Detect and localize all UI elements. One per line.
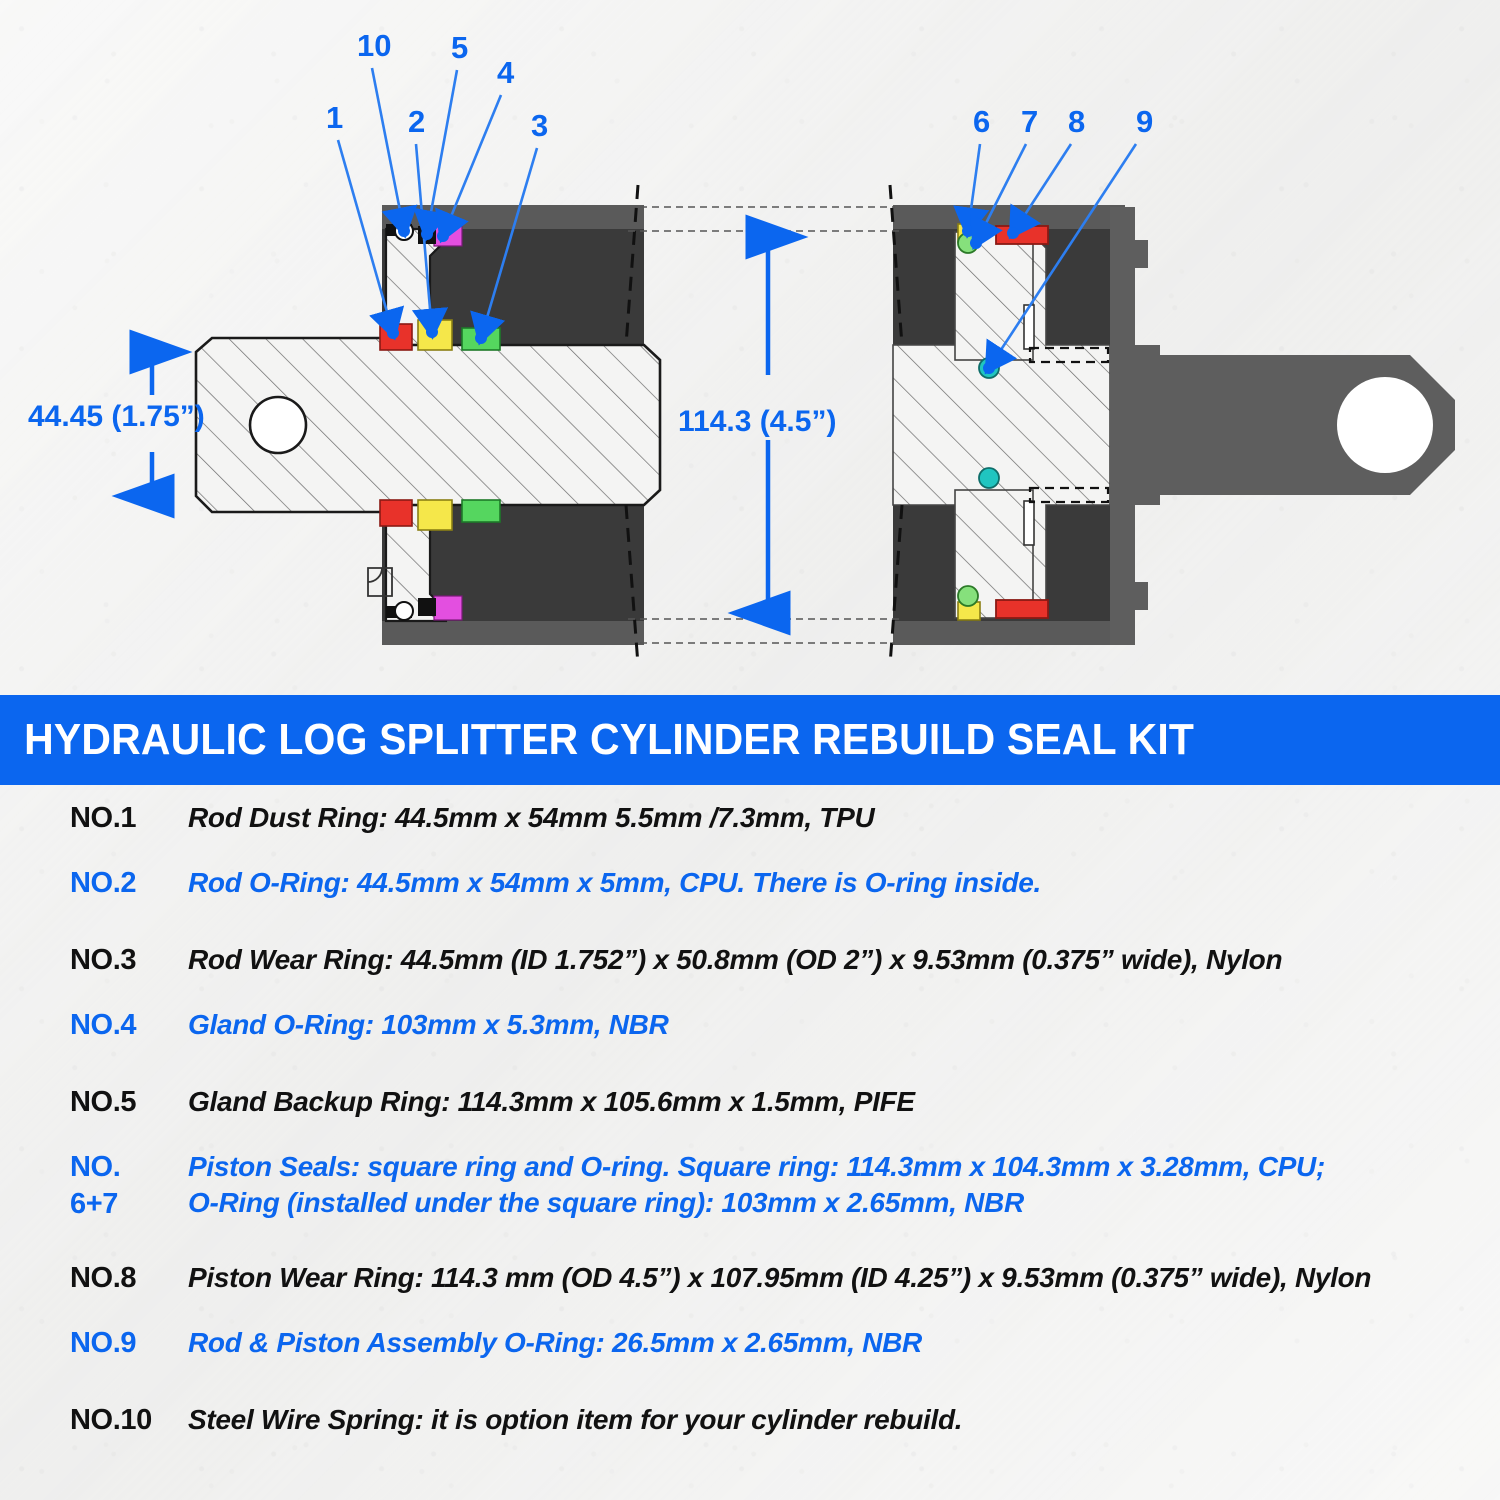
part-row: NO.6+7Piston Seals: square ring and O-ri… bbox=[0, 1149, 1500, 1257]
callout-number-9: 9 bbox=[1136, 104, 1153, 140]
part-number-line2: 6+7 bbox=[70, 1186, 188, 1223]
callout-number-5: 5 bbox=[451, 30, 468, 66]
title-banner: HYDRAULIC LOG SPLITTER CYLINDER REBUILD … bbox=[0, 695, 1500, 785]
seal-marker-4-gland-oring-mirror bbox=[434, 596, 462, 620]
part-row: NO.4Gland O-Ring: 103mm x 5.3mm, NBR bbox=[0, 1007, 1500, 1081]
parts-list: NO.1Rod Dust Ring: 44.5mm x 54mm 5.5mm /… bbox=[0, 800, 1500, 1461]
part-number: NO.4 bbox=[70, 1007, 188, 1044]
leader-dot-2 bbox=[426, 326, 438, 338]
callout-number-2: 2 bbox=[408, 104, 425, 140]
leader-dot-3 bbox=[475, 332, 487, 344]
rod-eye-hole bbox=[250, 397, 306, 453]
part-description: Rod Wear Ring: 44.5mm (ID 1.752”) x 50.8… bbox=[188, 942, 1282, 978]
part-description: Piston Seals: square ring and O-ring. Sq… bbox=[188, 1149, 1325, 1222]
part-description: Gland O-Ring: 103mm x 5.3mm, NBR bbox=[188, 1007, 669, 1043]
part-description: Rod & Piston Assembly O-Ring: 26.5mm x 2… bbox=[188, 1325, 922, 1361]
clevis-eye-end bbox=[1110, 207, 1455, 645]
leader-dot-6 bbox=[962, 225, 974, 237]
seal-marker-8-piston-wear-ring bbox=[996, 226, 1048, 244]
callout-number-6: 6 bbox=[973, 104, 990, 140]
part-description: Rod Dust Ring: 44.5mm x 54mm 5.5mm /7.3m… bbox=[188, 800, 874, 836]
part-description: Piston Wear Ring: 114.3 mm (OD 4.5”) x 1… bbox=[188, 1260, 1371, 1296]
seal-marker-9-assembly-oring-mirror bbox=[979, 468, 999, 488]
part-row: NO.2Rod O-Ring: 44.5mm x 54mm x 5mm, CPU… bbox=[0, 865, 1500, 939]
part-row: NO.1Rod Dust Ring: 44.5mm x 54mm 5.5mm /… bbox=[0, 800, 1500, 862]
part-number: NO.8 bbox=[70, 1260, 188, 1297]
clevis-pin-hole bbox=[1337, 377, 1433, 473]
part-description: Rod O-Ring: 44.5mm x 54mm x 5mm, CPU. Th… bbox=[188, 865, 1041, 901]
part-description-line2: O-Ring (installed under the square ring)… bbox=[188, 1185, 1325, 1221]
cylinder-svg bbox=[0, 0, 1500, 690]
dimension-label-rod-diameter: 44.45 (1.75”) bbox=[28, 400, 205, 434]
piston-rod bbox=[196, 338, 660, 512]
part-number: NO.3 bbox=[70, 942, 188, 979]
seal-marker-2-rod-oring-mirror bbox=[418, 500, 452, 530]
part-row: NO.9Rod & Piston Assembly O-Ring: 26.5mm… bbox=[0, 1325, 1500, 1399]
assembly-slot-bottom bbox=[1024, 501, 1034, 545]
leader-dot-1 bbox=[387, 327, 399, 339]
part-description: Gland Backup Ring: 114.3mm x 105.6mm x 1… bbox=[188, 1084, 915, 1120]
part-description: Steel Wire Spring: it is option item for… bbox=[188, 1402, 962, 1438]
seal-marker-5-backup-ring-mirror bbox=[418, 598, 436, 616]
callout-number-4: 4 bbox=[497, 55, 514, 91]
callout-number-7: 7 bbox=[1021, 104, 1038, 140]
banner-title: HYDRAULIC LOG SPLITTER CYLINDER REBUILD … bbox=[0, 715, 1194, 765]
callout-number-8: 8 bbox=[1068, 104, 1085, 140]
callout-number-10: 10 bbox=[357, 28, 391, 64]
leader-dot-10 bbox=[398, 225, 410, 237]
part-number: NO.9 bbox=[70, 1325, 188, 1362]
callout-number-3: 3 bbox=[531, 108, 548, 144]
seal-marker-1-dust-ring-mirror bbox=[380, 500, 412, 526]
leader-dot-8 bbox=[1007, 227, 1019, 239]
seal-marker-7-piston-oring-mirror bbox=[958, 586, 978, 606]
seal-marker-3-wear-ring-mirror bbox=[462, 500, 500, 522]
part-row: NO.5Gland Backup Ring: 114.3mm x 105.6mm… bbox=[0, 1084, 1500, 1146]
part-number: NO.5 bbox=[70, 1084, 188, 1121]
callout-number-1: 1 bbox=[326, 100, 343, 136]
seal-marker-8-piston-wear-ring-mirror bbox=[996, 600, 1048, 618]
part-row: NO.10Steel Wire Spring: it is option ite… bbox=[0, 1402, 1500, 1458]
leader-dot-4 bbox=[437, 230, 449, 242]
part-row: NO.3Rod Wear Ring: 44.5mm (ID 1.752”) x … bbox=[0, 942, 1500, 1004]
seal-marker-10-wire-spring-mirror bbox=[395, 602, 413, 620]
part-number: NO.2 bbox=[70, 865, 188, 902]
leader-dot-7 bbox=[970, 237, 982, 249]
part-row: NO.8Piston Wear Ring: 114.3 mm (OD 4.5”)… bbox=[0, 1260, 1500, 1322]
cylinder-cross-section-diagram: 11025436789 44.45 (1.75”) 114.3 (4.5”) bbox=[0, 0, 1500, 690]
leader-dot-5 bbox=[421, 228, 433, 240]
part-number: NO.1 bbox=[70, 800, 188, 837]
leader-dot-9 bbox=[983, 362, 995, 374]
part-number: NO.10 bbox=[70, 1402, 188, 1439]
part-number: NO.6+7 bbox=[70, 1149, 188, 1223]
dimension-label-bore-diameter: 114.3 (4.5”) bbox=[678, 405, 836, 439]
